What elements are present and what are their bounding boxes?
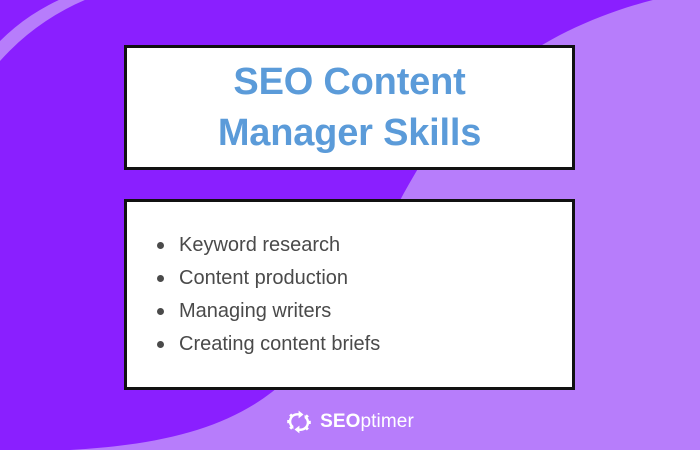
infographic-canvas: SEO Content Manager Skills Keyword resea… [0, 0, 700, 450]
bullet-icon [157, 308, 164, 315]
list-item: Managing writers [153, 295, 572, 328]
list-item-label: Managing writers [179, 300, 331, 322]
skills-card: Keyword research Content production Mana… [124, 199, 575, 390]
list-item-label: Creating content briefs [179, 333, 380, 355]
list-item-label: Content production [179, 267, 348, 289]
skills-list: Keyword research Content production Mana… [127, 229, 572, 361]
title-line-2: Manager Skills [218, 112, 481, 154]
bullet-icon [157, 275, 164, 282]
brand-logo-text-regular: ptimer [361, 411, 414, 432]
list-item: Content production [153, 262, 572, 295]
bullet-icon [157, 242, 164, 249]
brand-logo: SEOptimer [0, 405, 700, 439]
brand-logo-text: SEOptimer [320, 411, 414, 433]
list-item: Keyword research [153, 229, 572, 262]
list-item-label: Keyword research [179, 234, 340, 256]
title-card: SEO Content Manager Skills [124, 45, 575, 170]
seoptimer-gear-arrows-icon [286, 409, 312, 435]
page-title: SEO Content Manager Skills [204, 57, 495, 157]
title-line-1: SEO Content [233, 61, 465, 103]
brand-logo-text-bold: SEO [320, 411, 360, 432]
list-item: Creating content briefs [153, 328, 572, 361]
bullet-icon [157, 341, 164, 348]
